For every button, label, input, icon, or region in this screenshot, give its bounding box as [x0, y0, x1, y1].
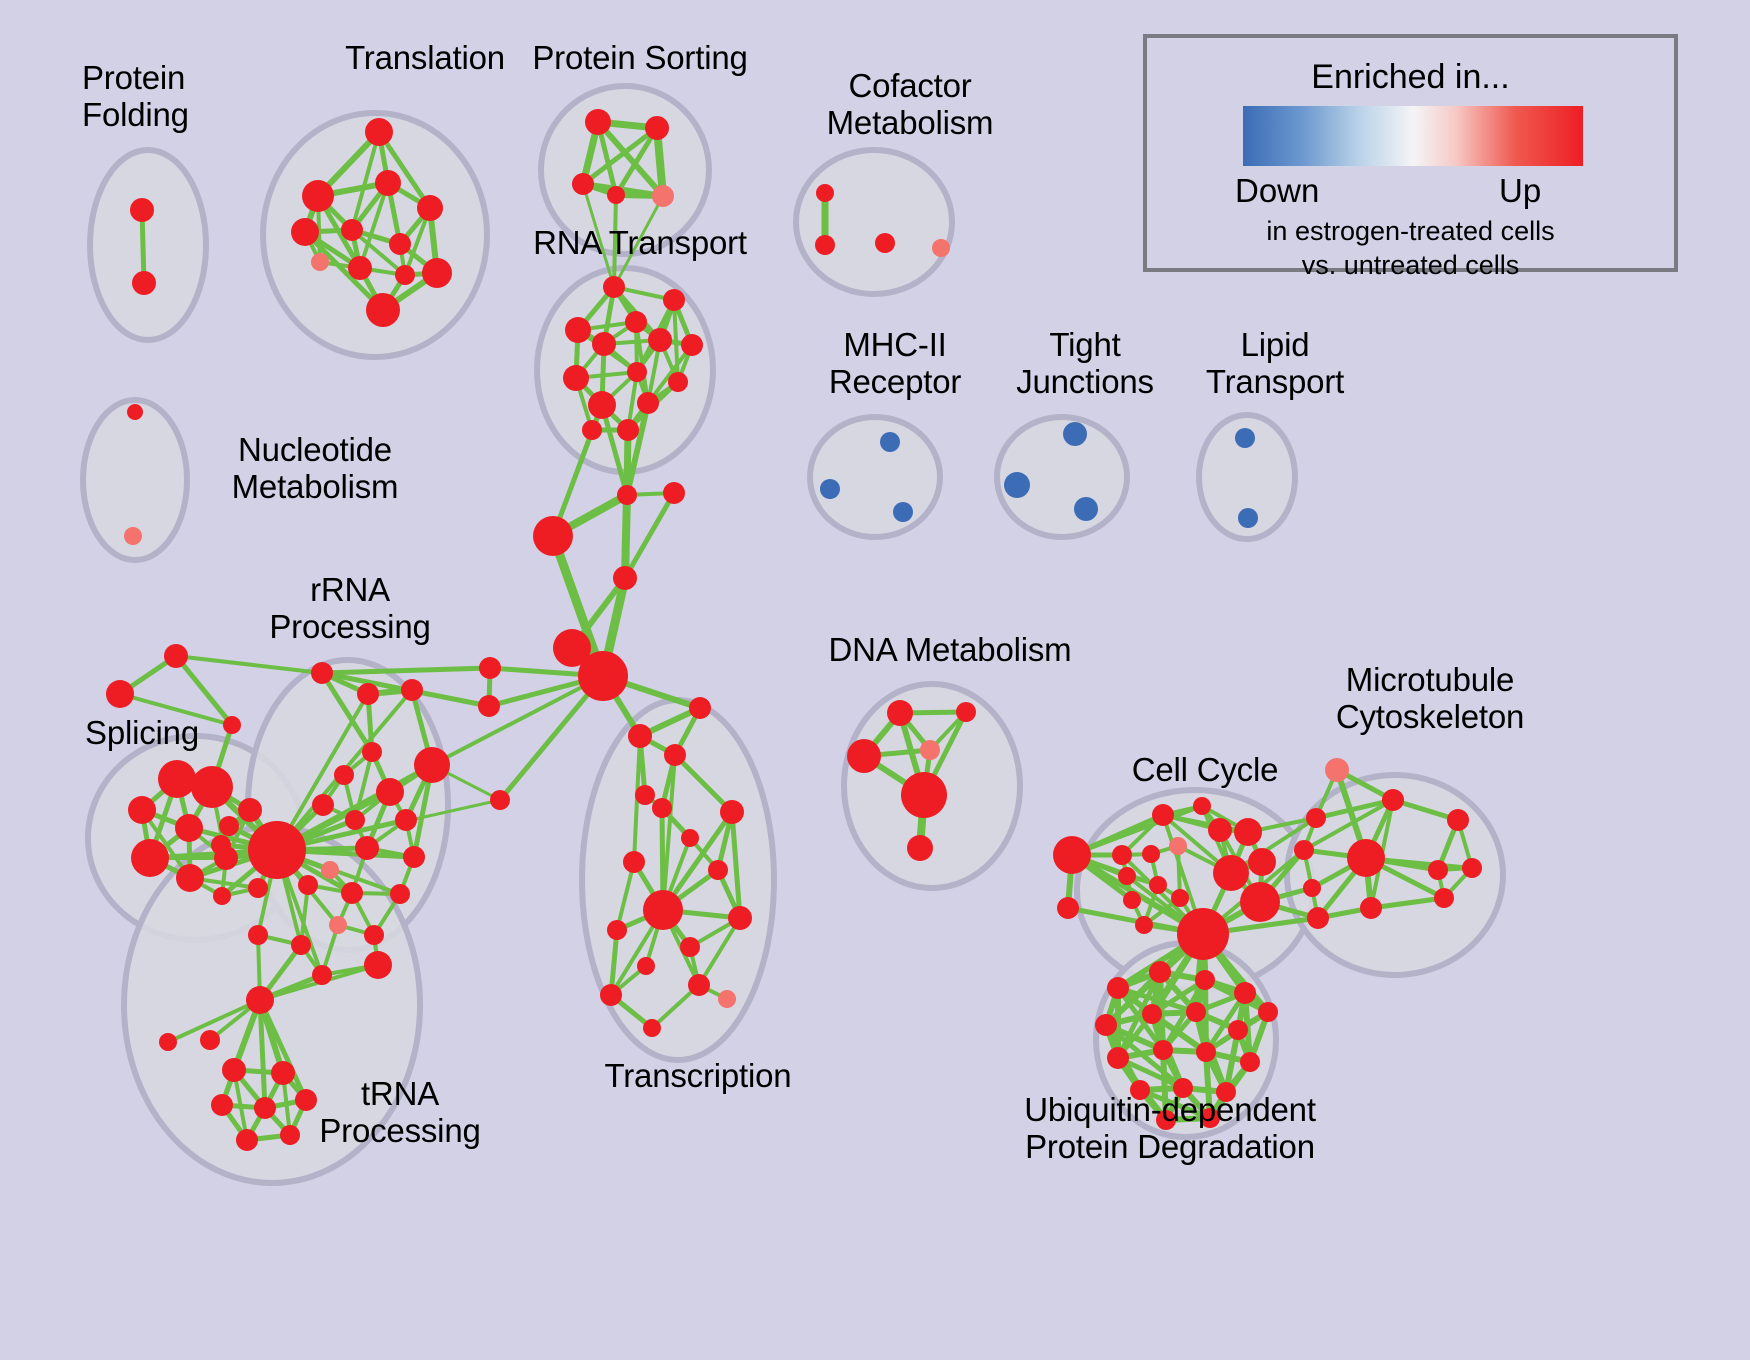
- gene-set-node[interactable]: [362, 742, 382, 762]
- gene-set-node[interactable]: [627, 362, 647, 382]
- gene-set-node[interactable]: [1307, 907, 1329, 929]
- gene-set-node[interactable]: [664, 744, 686, 766]
- gene-set-node[interactable]: [592, 332, 616, 356]
- gene-set-node[interactable]: [222, 1058, 246, 1082]
- gene-set-node[interactable]: [158, 760, 196, 798]
- gene-set-node[interactable]: [628, 724, 652, 748]
- gene-set-node[interactable]: [366, 293, 400, 327]
- enrichment-map-figure: Protein FoldingTranslationProtein Sortin…: [0, 0, 1750, 1360]
- gene-set-node[interactable]: [211, 835, 231, 855]
- gene-set-node[interactable]: [563, 365, 589, 391]
- gene-set-node[interactable]: [403, 846, 425, 868]
- gene-set-node[interactable]: [1240, 1052, 1260, 1072]
- gene-set-node[interactable]: [643, 890, 683, 930]
- gene-set-node[interactable]: [213, 887, 231, 905]
- gene-set-node[interactable]: [907, 835, 933, 861]
- gene-set-node[interactable]: [1153, 1040, 1173, 1060]
- edge: [176, 656, 322, 673]
- gene-set-node[interactable]: [1193, 797, 1211, 815]
- gene-set-node[interactable]: [348, 256, 372, 280]
- gene-set-node[interactable]: [1186, 1002, 1206, 1022]
- gene-set-node[interactable]: [246, 986, 274, 1014]
- gene-set-node[interactable]: [211, 1094, 233, 1116]
- gene-set-node[interactable]: [357, 683, 379, 705]
- gene-set-node[interactable]: [417, 195, 443, 221]
- gene-set-node[interactable]: [375, 170, 401, 196]
- gene-set-node[interactable]: [1213, 855, 1249, 891]
- gene-set-node[interactable]: [887, 700, 913, 726]
- gene-set-node[interactable]: [329, 916, 347, 934]
- gene-set-node[interactable]: [254, 1097, 276, 1119]
- gene-set-node[interactable]: [291, 935, 311, 955]
- gene-set-node[interactable]: [132, 271, 156, 295]
- legend-color-gradient-bar: [1243, 106, 1583, 166]
- legend-up-label: Up: [1499, 172, 1541, 210]
- gene-set-node[interactable]: [920, 740, 940, 760]
- gene-set-node[interactable]: [643, 1019, 661, 1037]
- gene-set-node[interactable]: [1347, 839, 1385, 877]
- legend-box: Enriched in... Down Up in estrogen-treat…: [1143, 34, 1678, 272]
- gene-set-node[interactable]: [623, 851, 645, 873]
- gene-set-node[interactable]: [236, 1129, 258, 1151]
- cluster-region-mhc-ii-receptor: [810, 417, 940, 537]
- gene-set-node[interactable]: [376, 778, 404, 806]
- gene-set-node[interactable]: [956, 702, 976, 722]
- gene-set-node[interactable]: [124, 527, 142, 545]
- cluster-region-cofactor-metabolism: [796, 150, 952, 294]
- gene-set-node[interactable]: [1053, 836, 1091, 874]
- gene-set-node[interactable]: [1258, 1002, 1278, 1022]
- cluster-label-trna-processing: tRNA Processing: [290, 1076, 510, 1150]
- gene-set-node[interactable]: [901, 772, 947, 818]
- gene-set-node[interactable]: [1118, 867, 1136, 885]
- gene-set-node[interactable]: [607, 186, 625, 204]
- legend-title: Enriched in...: [1147, 58, 1674, 97]
- cluster-label-cell-cycle: Cell Cycle: [1090, 752, 1320, 789]
- gene-set-node[interactable]: [1095, 1014, 1117, 1036]
- gene-set-node[interactable]: [1303, 879, 1321, 897]
- cluster-label-dna-metabolism: DNA Metabolism: [805, 632, 1095, 669]
- gene-set-node[interactable]: [321, 861, 339, 879]
- gene-set-node[interactable]: [490, 790, 510, 810]
- gene-set-node[interactable]: [390, 884, 410, 904]
- gene-set-node[interactable]: [815, 235, 835, 255]
- gene-set-node[interactable]: [1294, 840, 1314, 860]
- gene-set-node[interactable]: [1248, 848, 1276, 876]
- gene-set-node[interactable]: [1107, 977, 1129, 999]
- gene-set-node[interactable]: [847, 739, 881, 773]
- gene-set-node[interactable]: [127, 404, 143, 420]
- gene-set-node[interactable]: [652, 185, 674, 207]
- gene-set-node[interactable]: [1149, 961, 1171, 983]
- edge: [625, 495, 627, 578]
- gene-set-node[interactable]: [617, 485, 637, 505]
- gene-set-node[interactable]: [1462, 858, 1482, 878]
- gene-set-node[interactable]: [334, 765, 354, 785]
- gene-set-node[interactable]: [578, 651, 628, 701]
- gene-set-node[interactable]: [820, 479, 840, 499]
- gene-set-node[interactable]: [893, 502, 913, 522]
- gene-set-node[interactable]: [1063, 422, 1087, 446]
- gene-set-node[interactable]: [219, 816, 239, 836]
- gene-set-node[interactable]: [1434, 888, 1454, 908]
- gene-set-node[interactable]: [478, 695, 500, 717]
- gene-set-node[interactable]: [479, 657, 501, 679]
- gene-set-node[interactable]: [248, 821, 306, 879]
- gene-set-node[interactable]: [341, 219, 363, 241]
- gene-set-node[interactable]: [681, 829, 699, 847]
- gene-set-node[interactable]: [1235, 428, 1255, 448]
- gene-set-node[interactable]: [341, 882, 363, 904]
- gene-set-node[interactable]: [1208, 818, 1232, 842]
- legend-caption-line2: vs. untreated cells: [1147, 250, 1674, 281]
- edge: [625, 493, 674, 578]
- gene-set-node[interactable]: [663, 289, 685, 311]
- cluster-label-rrna-processing: rRNA Processing: [240, 572, 460, 646]
- gene-set-node[interactable]: [345, 810, 365, 830]
- gene-set-node[interactable]: [816, 184, 834, 202]
- cluster-label-lipid-transport: Lipid Transport: [1175, 327, 1375, 401]
- gene-set-node[interactable]: [128, 796, 156, 824]
- gene-set-node[interactable]: [613, 566, 637, 590]
- gene-set-node[interactable]: [414, 747, 450, 783]
- legend-down-label: Down: [1235, 172, 1319, 210]
- gene-set-node[interactable]: [728, 906, 752, 930]
- gene-set-node[interactable]: [175, 814, 203, 842]
- gene-set-node[interactable]: [159, 1033, 177, 1051]
- gene-set-node[interactable]: [1123, 891, 1141, 909]
- gene-set-node[interactable]: [720, 800, 744, 824]
- gene-set-node[interactable]: [1135, 916, 1153, 934]
- gene-set-node[interactable]: [1234, 982, 1256, 1004]
- gene-set-node[interactable]: [1238, 508, 1258, 528]
- cluster-label-transcription: Transcription: [568, 1058, 828, 1095]
- gene-set-node[interactable]: [311, 253, 329, 271]
- gene-set-node[interactable]: [1152, 804, 1174, 826]
- gene-set-node[interactable]: [422, 258, 452, 288]
- cluster-label-mhc-ii-receptor: MHC-II Receptor: [795, 327, 995, 401]
- cluster-label-splicing: Splicing: [52, 715, 232, 752]
- gene-set-node[interactable]: [572, 173, 594, 195]
- gene-set-node[interactable]: [164, 644, 188, 668]
- gene-set-node[interactable]: [1306, 808, 1326, 828]
- gene-set-node[interactable]: [588, 391, 616, 419]
- gene-set-node[interactable]: [689, 697, 711, 719]
- gene-set-node[interactable]: [401, 679, 423, 701]
- gene-set-node[interactable]: [617, 419, 639, 441]
- gene-set-node[interactable]: [1004, 472, 1030, 498]
- gene-set-node[interactable]: [389, 233, 411, 255]
- gene-set-node[interactable]: [1107, 1047, 1129, 1069]
- gene-set-node[interactable]: [565, 317, 591, 343]
- gene-set-node[interactable]: [1112, 845, 1132, 865]
- cluster-label-protein-folding: Protein Folding: [82, 60, 282, 134]
- cluster-label-cofactor-metabolism: Cofactor Metabolism: [790, 68, 1030, 142]
- gene-set-node[interactable]: [364, 925, 384, 945]
- gene-set-node[interactable]: [1169, 837, 1187, 855]
- cluster-region-protein-folding: [90, 150, 206, 340]
- gene-set-node[interactable]: [248, 878, 268, 898]
- gene-set-node[interactable]: [1195, 970, 1215, 990]
- gene-set-node[interactable]: [600, 984, 622, 1006]
- gene-set-node[interactable]: [298, 875, 318, 895]
- gene-set-node[interactable]: [1177, 908, 1229, 960]
- gene-set-node[interactable]: [637, 957, 655, 975]
- gene-set-node[interactable]: [607, 920, 627, 940]
- gene-set-node[interactable]: [1142, 1004, 1162, 1024]
- cluster-label-tight-junctions: Tight Junctions: [985, 327, 1185, 401]
- gene-set-node[interactable]: [1171, 889, 1189, 907]
- gene-set-node[interactable]: [238, 798, 262, 822]
- gene-set-node[interactable]: [176, 864, 204, 892]
- gene-set-node[interactable]: [131, 839, 169, 877]
- gene-set-node[interactable]: [1240, 882, 1280, 922]
- gene-set-node[interactable]: [365, 118, 393, 146]
- legend-caption-line1: in estrogen-treated cells: [1147, 216, 1674, 247]
- gene-set-node[interactable]: [312, 965, 332, 985]
- gene-set-node[interactable]: [585, 109, 611, 135]
- gene-set-node[interactable]: [1142, 845, 1160, 863]
- gene-set-node[interactable]: [625, 311, 647, 333]
- gene-set-node[interactable]: [302, 180, 334, 212]
- gene-set-node[interactable]: [875, 233, 895, 253]
- gene-set-node[interactable]: [663, 482, 685, 504]
- gene-set-node[interactable]: [1196, 1042, 1216, 1062]
- gene-set-node[interactable]: [932, 239, 950, 257]
- gene-set-node[interactable]: [645, 116, 669, 140]
- gene-set-node[interactable]: [1228, 1020, 1248, 1040]
- gene-set-node[interactable]: [106, 680, 134, 708]
- gene-set-node[interactable]: [652, 798, 672, 818]
- gene-set-node[interactable]: [582, 420, 602, 440]
- gene-set-node[interactable]: [191, 766, 233, 808]
- gene-set-node[interactable]: [312, 794, 334, 816]
- gene-set-node[interactable]: [1428, 860, 1448, 880]
- gene-set-node[interactable]: [130, 198, 154, 222]
- gene-set-node[interactable]: [248, 925, 268, 945]
- gene-set-node[interactable]: [395, 809, 417, 831]
- gene-set-node[interactable]: [1074, 497, 1098, 521]
- gene-set-node[interactable]: [364, 951, 392, 979]
- gene-set-node[interactable]: [880, 432, 900, 452]
- edge: [432, 676, 603, 765]
- gene-set-node[interactable]: [291, 218, 319, 246]
- gene-set-node[interactable]: [1325, 758, 1349, 782]
- gene-set-node[interactable]: [1234, 818, 1262, 846]
- cluster-label-protein-sorting: Protein Sorting: [500, 40, 780, 77]
- gene-set-node[interactable]: [680, 937, 700, 957]
- gene-set-node[interactable]: [1057, 897, 1079, 919]
- gene-set-node[interactable]: [708, 860, 728, 880]
- gene-set-node[interactable]: [395, 265, 415, 285]
- gene-set-node[interactable]: [533, 516, 573, 556]
- gene-set-node[interactable]: [603, 276, 625, 298]
- gene-set-node[interactable]: [668, 372, 688, 392]
- gene-set-node[interactable]: [1149, 876, 1167, 894]
- gene-set-node[interactable]: [718, 990, 736, 1008]
- gene-set-node[interactable]: [635, 785, 655, 805]
- gene-set-node[interactable]: [681, 334, 703, 356]
- cluster-label-ubiquitin-protein-degradation: Ubiquitin-dependent Protein Degradation: [985, 1092, 1355, 1166]
- cluster-label-nucleotide-metabolism: Nucleotide Metabolism: [190, 432, 440, 506]
- cluster-label-microtubule-cytoskeleton: Microtubule Cytoskeleton: [1300, 662, 1560, 736]
- gene-set-node[interactable]: [1447, 809, 1469, 831]
- gene-set-node[interactable]: [355, 836, 379, 860]
- gene-set-node[interactable]: [1360, 897, 1382, 919]
- gene-set-node[interactable]: [1382, 789, 1404, 811]
- gene-set-node[interactable]: [648, 328, 672, 352]
- gene-set-node[interactable]: [200, 1030, 220, 1050]
- gene-set-node[interactable]: [311, 662, 333, 684]
- gene-set-node[interactable]: [637, 392, 659, 414]
- cluster-label-rna-transport: RNA Transport: [500, 225, 780, 262]
- gene-set-node[interactable]: [688, 974, 710, 996]
